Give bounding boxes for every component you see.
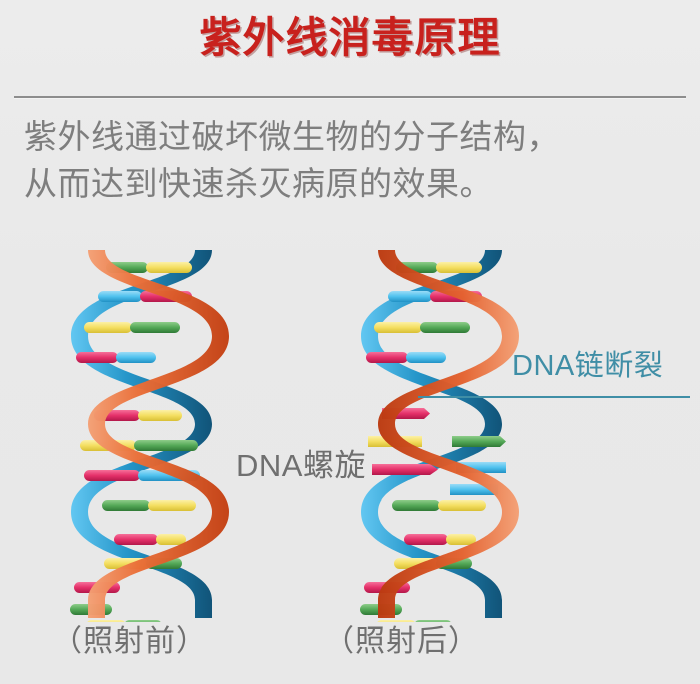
caption-before-irradiation: （照射前） xyxy=(52,616,207,660)
caption-after-irradiation: （照射后） xyxy=(324,616,479,660)
label-dna-helix: DNA螺旋 xyxy=(236,440,366,485)
leader-line-icon xyxy=(418,396,690,398)
label-dna-chain-break: DNA链断裂 xyxy=(512,342,663,384)
dna-helix-broken xyxy=(352,246,528,622)
infographic-page: 紫外线消毒原理 紫外线通过破坏微生物的分子结构， 从而达到快速杀灭病原的效果。 xyxy=(0,0,700,684)
dna-figure: DNA螺旋 DNA链断裂 （照射前） （照射后） xyxy=(0,0,700,684)
dna-helix-intact xyxy=(62,246,238,622)
